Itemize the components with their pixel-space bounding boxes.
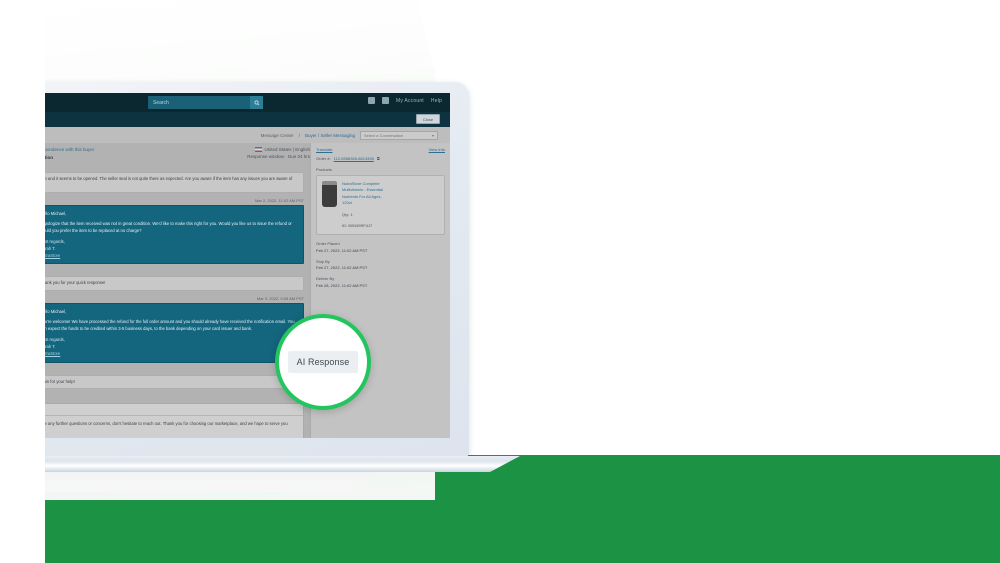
left-white-margin bbox=[0, 0, 45, 563]
headline-line-3: messages with bbox=[538, 279, 938, 325]
reply-composer: Remaining characters: 4001 📎 Order refun… bbox=[0, 395, 304, 438]
globe-icon[interactable] bbox=[382, 97, 389, 104]
search-icon[interactable] bbox=[250, 96, 263, 109]
message-signature-company: NutraStore bbox=[40, 350, 298, 357]
search-input[interactable]: Search bbox=[148, 96, 263, 109]
message-greeting: Hello Michael, bbox=[40, 210, 298, 217]
message-bubble-incoming: Hello, I just received the item and it s… bbox=[0, 172, 304, 193]
message-date: Mar 3, 2022, 10:20 AM PST bbox=[0, 368, 304, 373]
order-field: Order Placed Feb 27, 2022, 11:02 AM PST bbox=[316, 241, 445, 253]
order-field-key: Order Placed bbox=[316, 241, 445, 246]
close-button[interactable]: Close bbox=[416, 114, 440, 124]
laptop-screen: Search My Account Help Cl bbox=[0, 93, 450, 438]
account-link[interactable]: My Account bbox=[396, 98, 424, 104]
message-signoff: Best regards, bbox=[40, 336, 298, 343]
app-top-bar: Search My Account Help bbox=[0, 93, 450, 112]
message-bubble-outgoing: Hello Michael, You're welcome! We have p… bbox=[34, 303, 304, 363]
breadcrumb-root[interactable]: Message Center bbox=[261, 133, 294, 138]
view-info-link[interactable]: View Info bbox=[429, 147, 445, 152]
ai-response-button-magnified[interactable]: AI Response bbox=[288, 351, 359, 373]
top-bar-actions: My Account Help bbox=[368, 97, 442, 104]
message-signature-name: Sarah T. bbox=[40, 245, 298, 252]
close-button-label: Close bbox=[423, 117, 433, 122]
laptop-mockup: Search My Account Help Cl bbox=[0, 82, 470, 462]
composer-box: Order refunded It is our pleasure! If yo… bbox=[0, 403, 304, 438]
product-id: ID: B0N39RF4J7 bbox=[342, 223, 439, 229]
locale-text: United States | English bbox=[265, 147, 310, 152]
order-field: Ship By Feb 27, 2022, 11:02 AM PST bbox=[316, 259, 445, 271]
composer-textarea[interactable]: It is our pleasure! If you have any furt… bbox=[0, 416, 303, 438]
poster-canvas: Search My Account Help Cl bbox=[0, 0, 1000, 563]
conversation-column: Refund for all correspondence with this … bbox=[0, 143, 310, 438]
message-text: You're welcome! We have processed the re… bbox=[40, 318, 298, 332]
response-due-value: Due 24 hrs bbox=[288, 154, 310, 159]
response-due-row: Response window: Due 24 hrs bbox=[247, 154, 310, 159]
product-quantity: Qty: 1 bbox=[342, 212, 439, 218]
message-signoff: Best regards, bbox=[40, 238, 298, 245]
help-link[interactable]: Help bbox=[431, 98, 442, 104]
support-app: Search My Account Help Cl bbox=[0, 93, 450, 438]
composer-subject[interactable]: Order refunded bbox=[0, 404, 303, 416]
order-field: Deliver By Feb 28, 2022, 11:02 AM PST bbox=[316, 276, 445, 288]
copy-icon[interactable]: ⧉ bbox=[377, 156, 380, 161]
order-field-value: Feb 27, 2022, 11:02 AM PST bbox=[316, 265, 445, 270]
message-text: I apologize that the item received was n… bbox=[40, 220, 298, 234]
message-bubble-incoming: Yes, that would be great. Thank you for … bbox=[0, 276, 304, 290]
order-number-label: Order #: bbox=[316, 156, 331, 161]
message-bubble-outgoing: Hello Michael, I apologize that the item… bbox=[34, 205, 304, 265]
locale-row: United States | English bbox=[247, 147, 310, 152]
thread-header-right: United States | English Response window:… bbox=[247, 147, 310, 161]
headline-line-1: Reply to bbox=[538, 188, 938, 234]
message-date: Mar 3, 2022, 9:05 AM PST bbox=[0, 296, 304, 301]
headline-line-4: just one click bbox=[538, 325, 938, 371]
breadcrumb-separator: / bbox=[299, 133, 300, 138]
message-signature-company: NutraStore bbox=[40, 252, 298, 259]
conversation-select[interactable]: Select a Conversation ▾ bbox=[360, 131, 438, 140]
product-card: NutraStore Complete Multivitamin - Essen… bbox=[316, 175, 445, 235]
breadcrumb-current[interactable]: Buyer / Seller Messaging bbox=[305, 133, 355, 138]
composer-header: Remaining characters: 4001 📎 bbox=[0, 395, 304, 403]
headline-line-2: customer support bbox=[538, 234, 938, 280]
product-info: NutraStore Complete Multivitamin - Essen… bbox=[342, 181, 439, 229]
products-label: Products bbox=[316, 167, 445, 172]
search-placeholder: Search bbox=[153, 100, 169, 106]
cart-icon[interactable] bbox=[368, 97, 375, 104]
laptop-base bbox=[0, 456, 520, 472]
breadcrumb: Message Center / Buyer / Seller Messagin… bbox=[0, 127, 450, 143]
magnifier-callout: AI Response bbox=[275, 314, 371, 410]
product-name-line-4[interactable]: 120ct bbox=[342, 200, 439, 206]
order-number-row: Order #: 112-8958365-8813456 ⧉ bbox=[316, 156, 445, 161]
message-date: Mar 3, 2022, 7:41 AM PST bbox=[0, 269, 304, 274]
us-flag-icon bbox=[255, 147, 262, 152]
app-second-bar: Close bbox=[0, 112, 450, 127]
side-panel-links: Translate View Info bbox=[316, 147, 445, 152]
headline: Reply to customer support messages with … bbox=[538, 188, 938, 370]
message-date: Mar 2, 2022, 11:02 AM PST bbox=[0, 198, 304, 203]
translate-link[interactable]: Translate bbox=[316, 147, 333, 152]
order-field-key: Ship By bbox=[316, 259, 445, 264]
supplement-bottle-image bbox=[322, 181, 337, 207]
conversation-select-value: Select a Conversation bbox=[364, 133, 403, 138]
message-date: Mar 2, 2022, 9:14 AM PST bbox=[0, 165, 304, 170]
message-signature-name: Sarah T. bbox=[40, 343, 298, 350]
message-bubble-incoming: No, that's all. Thank you again for your… bbox=[0, 375, 304, 389]
order-field-value: Feb 28, 2022, 11:02 AM PST bbox=[316, 283, 445, 288]
chevron-down-icon: ▾ bbox=[432, 133, 434, 138]
order-field-value: Feb 27, 2022, 11:02 AM PST bbox=[316, 248, 445, 253]
message-greeting: Hello Michael, bbox=[40, 308, 298, 315]
response-due-label: Response window: bbox=[247, 154, 285, 159]
order-field-key: Deliver By bbox=[316, 276, 445, 281]
app-body: Refund for all correspondence with this … bbox=[0, 143, 450, 438]
order-number-value[interactable]: 112-8958365-8813456 bbox=[334, 156, 374, 161]
